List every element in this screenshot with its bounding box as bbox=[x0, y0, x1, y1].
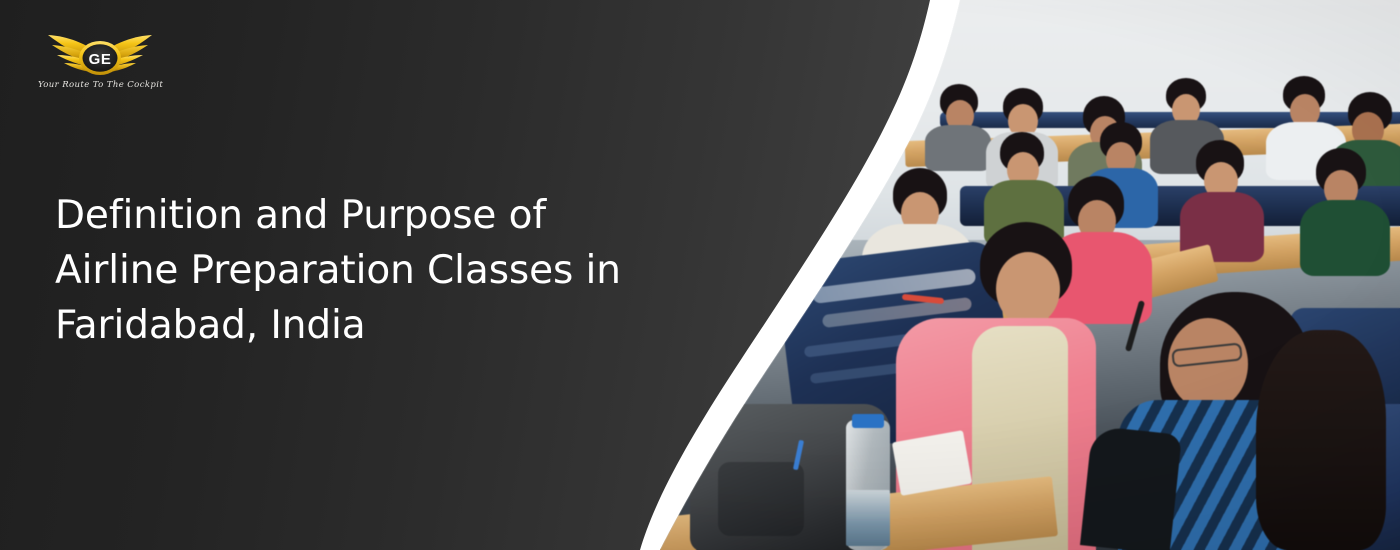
logo-monogram: GE bbox=[89, 51, 112, 68]
student-clothing bbox=[925, 125, 991, 171]
brand-logo[interactable]: GE Your Route To The Cockpit bbox=[38, 32, 162, 102]
backpack-pocket bbox=[718, 462, 804, 536]
bottle-cap bbox=[852, 414, 884, 428]
logo-tagline: Your Route To The Cockpit bbox=[38, 80, 162, 90]
page-title: Definition and Purpose of Airline Prepar… bbox=[55, 188, 675, 353]
hero-banner: GE Your Route To The Cockpit Definition … bbox=[0, 0, 1400, 550]
winged-ge-emblem-icon: GE bbox=[38, 32, 162, 80]
student-face bbox=[996, 252, 1060, 326]
student-hair-front bbox=[1256, 330, 1386, 550]
student-clothing bbox=[1300, 200, 1390, 276]
student-sleeve bbox=[1080, 426, 1182, 550]
bottle-label bbox=[846, 490, 890, 546]
